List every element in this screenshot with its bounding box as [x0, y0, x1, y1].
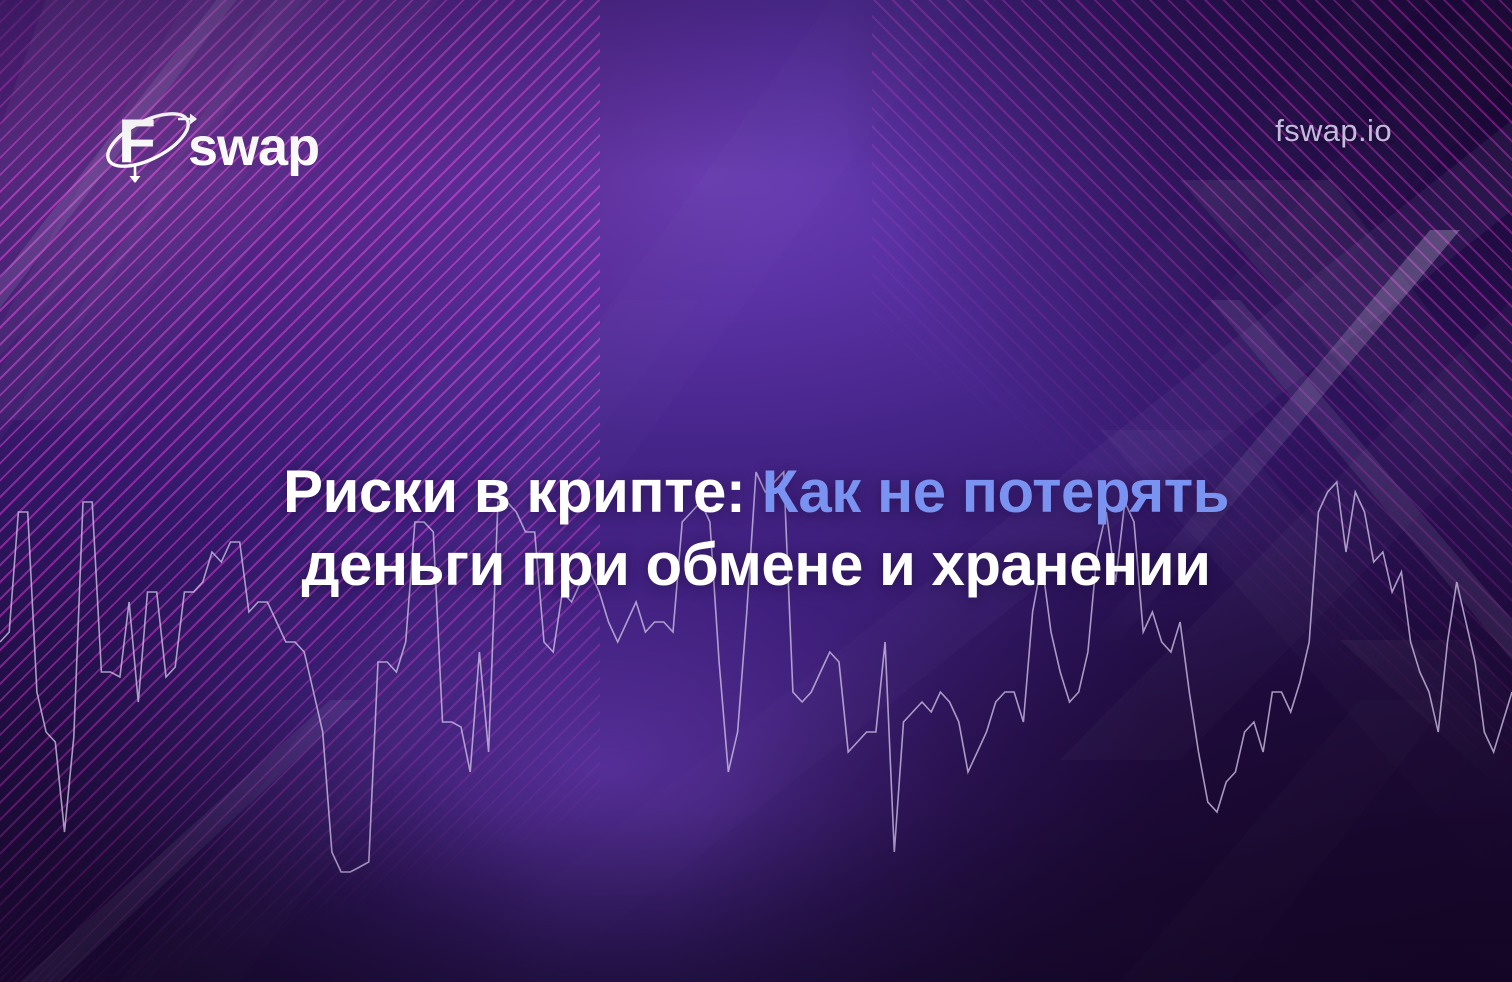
article-cover-banner: F swap fswap.io Риски в крипте: Как не п…	[0, 0, 1512, 982]
page-title-plain: Риски в крипте:	[283, 458, 745, 525]
page-title-line-2: деньги при обмене и хранении	[120, 528, 1392, 601]
page-title-line-1: Риски в крипте: Как не потерять	[120, 455, 1392, 528]
logo-wordmark: swap	[188, 117, 319, 177]
logo-letter-f: F	[118, 107, 156, 176]
site-url-label: fswap.io	[1275, 113, 1392, 149]
page-title: Риски в крипте: Как не потерять деньги п…	[0, 455, 1512, 601]
page-title-accent: Как не потерять	[762, 458, 1230, 525]
fswap-logo[interactable]: F swap	[96, 92, 326, 188]
